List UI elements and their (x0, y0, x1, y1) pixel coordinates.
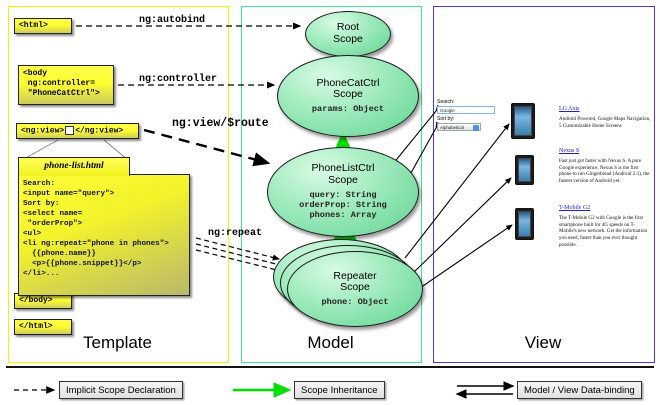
note-title-tab: phone-list.html (18, 157, 130, 176)
code-box-body-open: <body ng:controller= "PhoneCatCtrl"> (18, 65, 114, 105)
scope-phonecatctrl-props: params: Object (312, 104, 384, 114)
code-box-ngview: <ng:view></ng:view> (16, 123, 139, 139)
view-sort-label: Sort by: (437, 116, 454, 122)
phone-screen (518, 211, 531, 237)
phone-thumbnail-nexus-s (515, 155, 534, 185)
scope-root-name: RootScope (333, 22, 363, 46)
phone-desc-nexus-s: Fast just got faster with Nexus S. A pur… (559, 158, 651, 185)
phone-desc-t-mobile-g2: The T-Mobile G2 with Google is the first… (559, 215, 651, 249)
legend-implicit-scope-declaration: Implicit Scope Declaration (59, 381, 183, 399)
ngview-open-tag: <ng:view> (21, 127, 64, 136)
diagram-canvas: Template Model View (0, 0, 660, 405)
scope-root: RootScope (305, 11, 391, 57)
note-body: Search: <input name="query"> Sort by: <s… (18, 174, 190, 296)
scope-phonelistctrl-props: query: String orderProp: String phones: … (299, 190, 387, 221)
phone-screen (514, 106, 532, 136)
note-code: Search: <input name="query"> Sort by: <s… (23, 179, 185, 279)
scope-repeater: RepeaterScope phone: Object (287, 251, 423, 327)
scope-phonecatctrl: PhoneCatCtrlScope params: Object (277, 55, 419, 137)
scope-phonecatctrl-name: PhoneCatCtrlScope (316, 78, 379, 102)
scope-phonelistctrl-name: PhoneListCtrlScope (311, 163, 374, 187)
phone-link-nexus-s[interactable]: Nexus S (559, 148, 579, 154)
chevron-down-icon (473, 125, 479, 131)
phone-thumbnail-t-mobile-g2 (515, 208, 534, 240)
legend-model-view-data-binding: Model / View Data-binding (517, 381, 642, 399)
note-title: phone-list.html (19, 158, 129, 175)
phone-link-lg-axis[interactable]: LG Axis (559, 106, 580, 112)
phone-desc-lg-axis: Android Powered, Google Maps Navigation,… (559, 116, 651, 129)
edge-label-ng-repeat: ng:repeat (208, 228, 262, 239)
edge-label-ng-autobind: ng:autobind (139, 15, 205, 26)
code-box-html-close: </html> (14, 319, 72, 335)
ngview-close-tag: </ng:view> (75, 127, 123, 136)
legend-divider (6, 366, 654, 368)
legend-scope-inheritance: Scope Inheritance (294, 381, 385, 399)
search-input[interactable]: Google (437, 106, 495, 114)
phone-thumbnail-lg-axis (511, 103, 535, 139)
scope-repeater-props: phone: Object (321, 297, 388, 307)
scope-phonelistctrl: PhoneListCtrlScope query: String orderPr… (267, 147, 419, 237)
sort-select[interactable]: Alphabetical (437, 123, 481, 131)
ngview-placeholder-icon (65, 126, 74, 135)
note-phone-list-html: phone-list.html Search: <input name="que… (18, 157, 190, 297)
view-search-label: Search: (437, 99, 454, 105)
edge-label-ng-controller: ng:controller (139, 74, 217, 85)
panel-title-model: Model (241, 333, 420, 353)
phone-link-t-mobile-g2[interactable]: T-Mobile G2 (559, 205, 590, 211)
panel-title-template: Template (8, 333, 227, 353)
search-input-value: Google (438, 107, 494, 114)
code-box-html-open: <html> (14, 18, 72, 34)
panel-title-view: View (433, 333, 653, 353)
edge-label-ng-view-route: ng:view/$route (172, 117, 269, 130)
phone-screen (518, 158, 531, 182)
scope-repeater-name: RepeaterScope (333, 271, 376, 295)
